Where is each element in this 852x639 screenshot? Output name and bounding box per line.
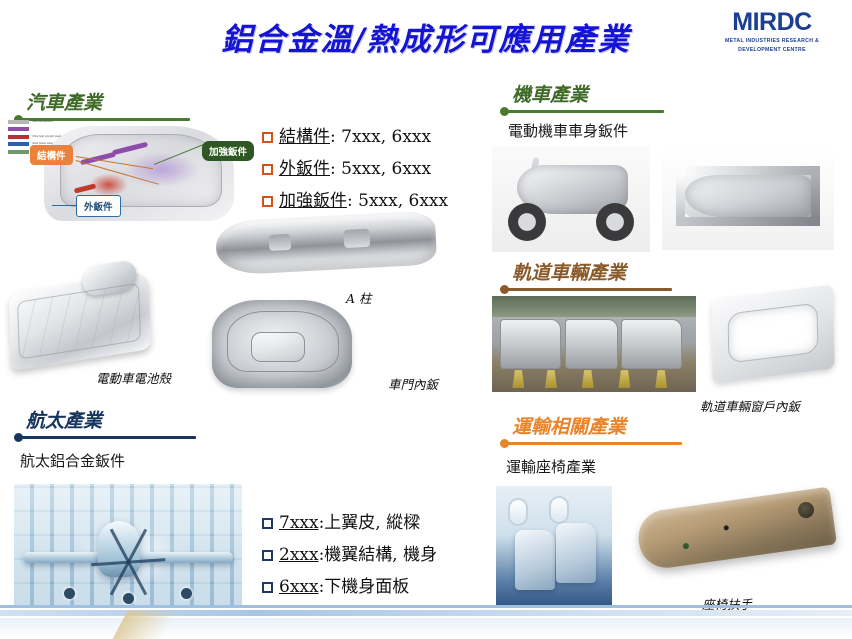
- section-rule-aerospace: [14, 433, 214, 442]
- ev-battery-case-image: [9, 271, 152, 371]
- subtitle-transport: 運輸座椅產業: [506, 456, 596, 477]
- list-item: 6xxx:下機身面板: [262, 572, 437, 597]
- landing-gear: [123, 593, 134, 604]
- factory-ceiling: [492, 296, 696, 317]
- support-jack: [545, 370, 557, 388]
- rail-window-inner-panel-image: [711, 285, 834, 384]
- section-title-automotive: 汽車產業: [14, 88, 204, 115]
- list-item: 2xxx:機翼結構, 機身: [262, 540, 437, 565]
- scooter-rear-wheel: [596, 203, 634, 241]
- electric-scooter-photo: [492, 146, 650, 252]
- bullet-square-icon: [262, 582, 273, 593]
- section-title-aerospace: 航太產業: [14, 406, 214, 433]
- a-pillar-part-image: [215, 210, 438, 275]
- bullet-square-icon: [262, 164, 273, 175]
- aircraft-seats-photo: [496, 486, 612, 608]
- subtitle-aerospace: 航太鋁合金鈑件: [20, 450, 125, 471]
- callout-outer-panel: 外鈑件: [76, 195, 121, 217]
- bullet-text: 2xxx:機翼結構, 機身: [279, 540, 437, 565]
- caption-door-inner-panel: 車門內鈑: [388, 374, 438, 393]
- armrest-marker-dot: [683, 543, 690, 550]
- section-rule-rail: [500, 285, 690, 294]
- legend-swatch: [8, 127, 29, 131]
- logo-wordmark: MIRDC: [708, 8, 836, 37]
- mirdc-logo: MIRDC METAL INDUSTRIES RESEARCH & DEVELO…: [708, 8, 836, 55]
- bullet-term: 加強鈑件: [279, 191, 347, 211]
- section-rule-motorcycle: [500, 107, 690, 116]
- car-body-illustration: [44, 126, 234, 221]
- bullet-square-icon: [262, 196, 273, 207]
- bullet-term: 外鈑件: [279, 159, 330, 179]
- bullet-text: 7xxx:上翼皮, 縱樑: [279, 508, 420, 533]
- section-header-aerospace: 航太產業: [14, 406, 214, 442]
- footer-accent-swish: [113, 611, 198, 639]
- section-header-transport: 運輸相關產業: [500, 412, 700, 448]
- support-jack: [512, 370, 524, 388]
- scooter-frame-part-photo: [662, 148, 834, 250]
- bullet-text: 結構件: 7xxx, 6xxx: [279, 122, 431, 147]
- logo-tagline-line1: METAL INDUSTRIES RESEARCH &: [708, 38, 836, 46]
- railcar-body: [565, 319, 618, 369]
- bullet-value: :機翼結構, 機身: [319, 545, 438, 565]
- section-header-motorcycle: 機車產業: [500, 80, 690, 116]
- legend-item: [8, 127, 64, 131]
- section-title-motorcycle: 機車產業: [500, 80, 690, 107]
- slide-canvas: 鋁合金溫/熱成形可應用產業 MIRDC METAL INDUSTRIES RES…: [0, 0, 852, 639]
- automotive-bullet-list: 結構件: 7xxx, 6xxx 外鈑件: 5xxx, 6xxx 加強鈑件: 5x…: [262, 122, 448, 218]
- railcar-body: [500, 319, 561, 369]
- bullet-value: :上翼皮, 縱樑: [319, 513, 421, 533]
- railcar-body: [621, 319, 682, 369]
- bullet-text: 加強鈑件: 5xxx, 6xxx: [279, 186, 448, 211]
- legend-swatch: [8, 150, 29, 154]
- rule-bar: [18, 436, 196, 439]
- seat-back: [515, 530, 555, 590]
- bullet-text: 外鈑件: 5xxx, 6xxx: [279, 154, 431, 179]
- section-title-rail: 軌道車輛產業: [500, 258, 690, 285]
- section-title-transport: 運輸相關產業: [500, 412, 700, 439]
- railcar-factory-photo: [492, 296, 696, 392]
- rule-bar: [504, 288, 672, 291]
- logo-tagline-line2: DEVELOPMENT CENTRE: [708, 47, 836, 55]
- cabin-window: [508, 498, 528, 526]
- bullet-value: : 5xxx, 6xxx: [347, 191, 448, 211]
- slide-footer-band: [0, 605, 852, 639]
- bullet-term: 6xxx: [279, 577, 319, 597]
- legend-swatch: [8, 142, 29, 146]
- legend-label: Stahl tailorgeblend: [32, 120, 54, 123]
- support-jack: [582, 370, 594, 388]
- section-header-rail: 軌道車輛產業: [500, 258, 690, 294]
- bullet-text: 6xxx:下機身面板: [279, 572, 409, 597]
- door-inner-panel-image: [212, 300, 352, 388]
- caption-a-pillar: A 柱: [346, 288, 372, 307]
- callout-structural-parts: 結構件: [30, 145, 73, 165]
- footer-line-top: [0, 605, 852, 608]
- rule-bar: [504, 442, 682, 445]
- support-jack: [655, 370, 667, 388]
- bullet-value: :下機身面板: [319, 577, 410, 597]
- callout-reinforcement-panel: 加強鈑件: [202, 141, 254, 161]
- legend-swatch: [8, 135, 29, 139]
- list-item: 外鈑件: 5xxx, 6xxx: [262, 154, 448, 179]
- bullet-square-icon: [262, 550, 273, 561]
- legend-item: Stahl tailorgeblend: [8, 120, 64, 124]
- legend-label: (Ultra high strength steel): [32, 135, 61, 138]
- list-item: 結構件: 7xxx, 6xxx: [262, 122, 448, 147]
- bullet-term: 結構件: [279, 127, 330, 147]
- support-jack: [618, 370, 630, 388]
- rule-bar: [504, 110, 664, 113]
- list-item: 7xxx:上翼皮, 縱樑: [262, 508, 437, 533]
- seat-armrest-part-image: [635, 487, 837, 572]
- list-item: 加強鈑件: 5xxx, 6xxx: [262, 186, 448, 211]
- cabin-window: [549, 496, 569, 524]
- bullet-value: : 7xxx, 6xxx: [330, 127, 431, 147]
- frame-part-shape: [676, 166, 820, 225]
- caption-rail-window-panel: 軌道車輛窗戶內鈑: [700, 396, 800, 415]
- aerospace-bullet-list: 7xxx:上翼皮, 縱樑 2xxx:機翼結構, 機身 6xxx:下機身面板: [262, 508, 437, 604]
- legend-item: (Ultra high strength steel): [8, 135, 64, 139]
- caption-ev-battery-case: 電動車電池殼: [96, 368, 171, 387]
- landing-gear: [181, 588, 192, 599]
- bullet-term: 7xxx: [279, 513, 319, 533]
- subtitle-motorcycle: 電動機車車身鈑件: [508, 120, 628, 141]
- bullet-term: 2xxx: [279, 545, 319, 565]
- scooter-front-wheel: [508, 203, 546, 241]
- aircraft-photo: [14, 484, 242, 606]
- section-rule-transport: [500, 439, 700, 448]
- car-exploded-diagram: Stahl tailorgeblend (Ultra high strength…: [4, 112, 254, 242]
- bullet-square-icon: [262, 518, 273, 529]
- bullet-value: : 5xxx, 6xxx: [330, 159, 431, 179]
- bullet-square-icon: [262, 132, 273, 143]
- landing-gear: [64, 588, 75, 599]
- seat-back: [556, 523, 596, 583]
- legend-swatch: [8, 120, 29, 124]
